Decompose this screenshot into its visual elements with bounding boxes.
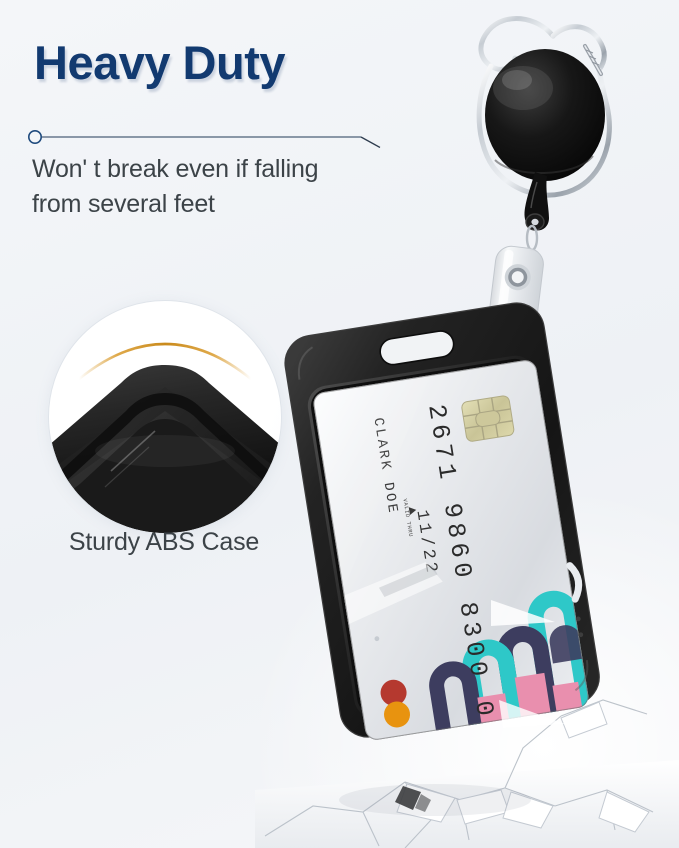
feature-caption: Sturdy ABS Case bbox=[48, 528, 280, 557]
abs-case-corner bbox=[49, 365, 281, 533]
product-illustration: 2671 9860 8300 0202 CLARK DOE VALID THRU… bbox=[255, 0, 679, 848]
feature-zoom-bubble bbox=[48, 300, 282, 534]
divider-dot-icon bbox=[29, 131, 41, 143]
badge-reel-assembly bbox=[479, 19, 609, 250]
page-title: Heavy Duty bbox=[34, 38, 285, 87]
product-marketing-banner: Heavy Duty Won' t break even if falling … bbox=[0, 0, 679, 848]
card-chip-icon bbox=[461, 395, 515, 442]
card-holder: 2671 9860 8300 0202 CLARK DOE VALID THRU… bbox=[279, 299, 613, 803]
